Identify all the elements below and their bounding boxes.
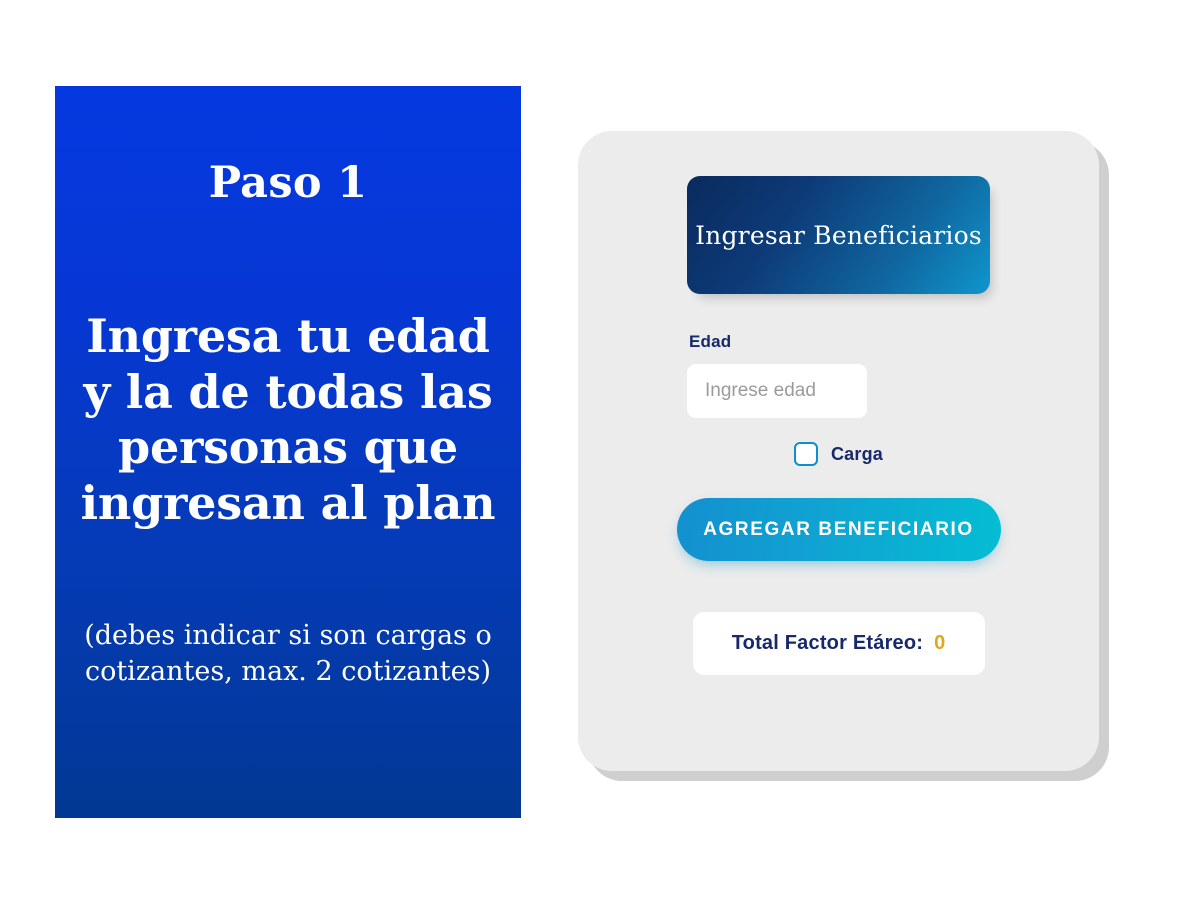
carga-checkbox-row[interactable]: Carga bbox=[794, 442, 883, 466]
add-beneficiary-button[interactable]: AGREGAR BENEFICIARIO bbox=[677, 498, 1001, 561]
step-label: Paso 1 bbox=[209, 162, 368, 205]
step-info-panel: Paso 1 Ingresa tu edad y la de todas las… bbox=[55, 86, 521, 818]
card-banner-wrapper: Ingresar Beneficiarios bbox=[687, 176, 990, 294]
carga-checkbox[interactable] bbox=[794, 442, 818, 466]
age-field-group: Edad bbox=[687, 332, 990, 418]
total-factor-label: Total Factor Etáreo: bbox=[732, 632, 923, 655]
carga-checkbox-label: Carga bbox=[831, 444, 883, 465]
total-factor-value: 0 bbox=[934, 632, 945, 655]
total-factor-box: Total Factor Etáreo: 0 bbox=[693, 612, 985, 675]
age-field-label: Edad bbox=[689, 332, 990, 352]
card-banner-title: Ingresar Beneficiarios bbox=[695, 221, 982, 250]
beneficiaries-form-card: Ingresar Beneficiarios Edad Carga AGREGA… bbox=[578, 131, 1099, 771]
panel-note: (debes indicar si son cargas o cotizante… bbox=[73, 618, 503, 690]
panel-heading: Ingresa tu edad y la de todas las person… bbox=[78, 309, 498, 532]
age-input[interactable] bbox=[687, 364, 867, 418]
card-banner: Ingresar Beneficiarios bbox=[687, 176, 990, 294]
